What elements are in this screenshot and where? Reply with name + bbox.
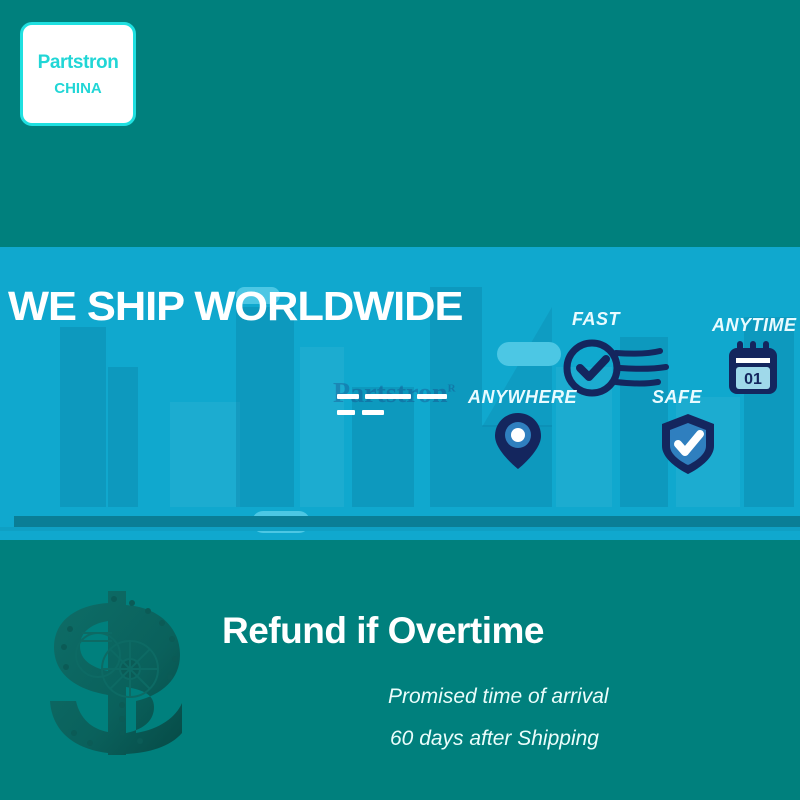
- shield-check-icon: [658, 412, 720, 478]
- building-silhouette: [236, 307, 294, 507]
- building-silhouette: [170, 402, 240, 507]
- building-silhouette: [108, 367, 138, 507]
- brand-name: Partstron: [38, 53, 119, 72]
- watermark-registered: R: [448, 383, 456, 395]
- motion-dash: [337, 410, 355, 415]
- motion-dash: [362, 410, 384, 415]
- cloud-icon: [497, 342, 561, 366]
- motion-dash: [417, 394, 447, 399]
- brand-country: CHINA: [54, 81, 102, 96]
- building-silhouette: [60, 327, 106, 507]
- motion-dash: [337, 394, 359, 399]
- dollar-vault-icon: [30, 583, 205, 758]
- refund-line-1: Promised time of arrival: [388, 685, 609, 709]
- building-silhouette: [300, 347, 344, 507]
- promo-page: Partstron CHINA WE SHIP WORLDWIDE Partst…: [0, 0, 800, 800]
- calendar-day: 01: [744, 371, 762, 388]
- building-roof: [482, 307, 552, 427]
- location-pin-icon: [492, 411, 548, 473]
- brand-logo: Partstron CHINA: [20, 22, 136, 126]
- ground-bar: [14, 516, 800, 527]
- ground-line: [0, 527, 800, 531]
- calendar-icon: 01: [726, 339, 782, 399]
- shipping-banner: WE SHIP WORLDWIDE PartstronR: [0, 247, 800, 540]
- feature-safe-label: SAFE: [652, 387, 702, 408]
- motion-dash: [365, 394, 411, 399]
- feature-anywhere-label: ANYWHERE: [468, 387, 577, 408]
- banner-headline: WE SHIP WORLDWIDE: [8, 283, 462, 330]
- feature-anytime-label: ANYTIME: [712, 315, 797, 336]
- feature-fast-label: FAST: [572, 309, 620, 330]
- refund-title: Refund if Overtime: [222, 610, 544, 652]
- refund-line-2: 60 days after Shipping: [390, 727, 599, 751]
